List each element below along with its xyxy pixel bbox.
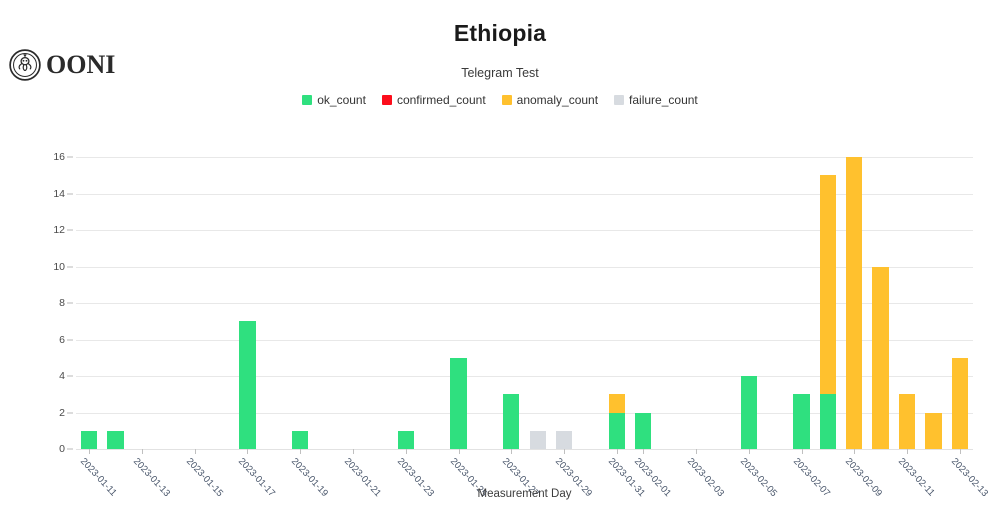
x-axis-tick-mark <box>511 449 512 454</box>
bar-segment-ok-count[interactable] <box>107 431 123 449</box>
bar-segment-ok-count[interactable] <box>820 394 836 449</box>
gridline <box>76 267 973 268</box>
x-axis-tick-mark <box>617 449 618 454</box>
x-axis-tick-mark <box>89 449 90 454</box>
y-axis-tick-mark <box>67 412 73 413</box>
bar-stack[interactable] <box>872 267 888 450</box>
x-axis-tick-mark <box>960 449 961 454</box>
x-axis-tick-mark <box>696 449 697 454</box>
bar-segment-anomaly-count[interactable] <box>952 358 968 449</box>
x-axis-tick-mark <box>406 449 407 454</box>
gridline <box>76 194 973 195</box>
bar-stack[interactable] <box>820 175 836 449</box>
bar-segment-ok-count[interactable] <box>292 431 308 449</box>
y-axis-tick-mark <box>67 449 73 450</box>
x-axis-tick-mark <box>142 449 143 454</box>
bar-stack[interactable] <box>793 394 809 449</box>
bar-segment-failure-count[interactable] <box>556 431 572 449</box>
y-axis-tick-label: 16 <box>53 151 65 163</box>
y-axis-tick-label: 2 <box>59 407 65 419</box>
gridline <box>76 340 973 341</box>
y-axis-tick-mark <box>67 266 73 267</box>
y-axis-tick-label: 4 <box>59 370 65 382</box>
bar-segment-anomaly-count[interactable] <box>872 267 888 450</box>
bar-stack[interactable] <box>107 431 123 449</box>
bar-stack[interactable] <box>925 413 941 450</box>
chart-plot-area: 02468101214162023-01-112023-01-132023-01… <box>0 0 1000 524</box>
bar-stack[interactable] <box>741 376 757 449</box>
bar-stack[interactable] <box>609 394 625 449</box>
gridline <box>76 303 973 304</box>
gridline <box>76 413 973 414</box>
bar-stack[interactable] <box>952 358 968 449</box>
bar-stack[interactable] <box>503 394 519 449</box>
bar-stack[interactable] <box>450 358 466 449</box>
y-axis-tick-label: 14 <box>53 188 65 200</box>
x-axis-baseline <box>76 449 973 450</box>
bar-segment-ok-count[interactable] <box>609 413 625 449</box>
y-axis-tick-mark <box>67 157 73 158</box>
bar-segment-anomaly-count[interactable] <box>846 157 862 449</box>
bar-segment-ok-count[interactable] <box>635 413 651 450</box>
bar-segment-ok-count[interactable] <box>239 321 255 449</box>
gridline <box>76 230 973 231</box>
y-axis-tick-label: 6 <box>59 334 65 346</box>
bar-stack[interactable] <box>530 431 546 449</box>
y-axis-tick-label: 0 <box>59 443 65 455</box>
x-axis-tick-mark <box>247 449 248 454</box>
x-axis-title: Measurement Day <box>76 488 973 500</box>
y-axis-tick-mark <box>67 339 73 340</box>
bar-segment-ok-count[interactable] <box>503 394 519 449</box>
y-axis-tick-mark <box>67 376 73 377</box>
bar-stack[interactable] <box>556 431 572 449</box>
y-axis-tick-label: 8 <box>59 297 65 309</box>
x-axis-tick-mark <box>300 449 301 454</box>
x-axis-tick-mark <box>802 449 803 454</box>
y-axis-tick-mark <box>67 303 73 304</box>
bar-segment-ok-count[interactable] <box>81 431 97 449</box>
x-axis-tick-mark <box>459 449 460 454</box>
x-axis-tick-mark <box>854 449 855 454</box>
x-axis-tick-mark <box>564 449 565 454</box>
y-axis-tick-mark <box>67 193 73 194</box>
bar-segment-anomaly-count[interactable] <box>925 413 941 450</box>
x-axis-tick-mark <box>749 449 750 454</box>
bar-stack[interactable] <box>635 413 651 450</box>
x-axis-tick-mark <box>907 449 908 454</box>
x-axis-tick-mark <box>195 449 196 454</box>
bar-stack[interactable] <box>81 431 97 449</box>
bar-stack[interactable] <box>846 157 862 449</box>
bar-segment-ok-count[interactable] <box>450 358 466 449</box>
bar-segment-anomaly-count[interactable] <box>820 175 836 394</box>
y-axis-tick-label: 12 <box>53 224 65 236</box>
y-axis-tick-mark <box>67 230 73 231</box>
bar-segment-anomaly-count[interactable] <box>899 394 915 449</box>
chart-axes: 02468101214162023-01-112023-01-132023-01… <box>76 157 973 449</box>
bar-stack[interactable] <box>899 394 915 449</box>
bar-segment-ok-count[interactable] <box>398 431 414 449</box>
x-axis-tick-mark <box>353 449 354 454</box>
gridline <box>76 376 973 377</box>
x-axis-tick-mark <box>643 449 644 454</box>
y-axis-tick-label: 10 <box>53 261 65 273</box>
bar-segment-failure-count[interactable] <box>530 431 546 449</box>
bar-stack[interactable] <box>239 321 255 449</box>
bar-segment-anomaly-count[interactable] <box>609 394 625 412</box>
bar-segment-ok-count[interactable] <box>741 376 757 449</box>
bar-stack[interactable] <box>398 431 414 449</box>
gridline <box>76 157 973 158</box>
bar-segment-ok-count[interactable] <box>793 394 809 449</box>
bar-stack[interactable] <box>292 431 308 449</box>
